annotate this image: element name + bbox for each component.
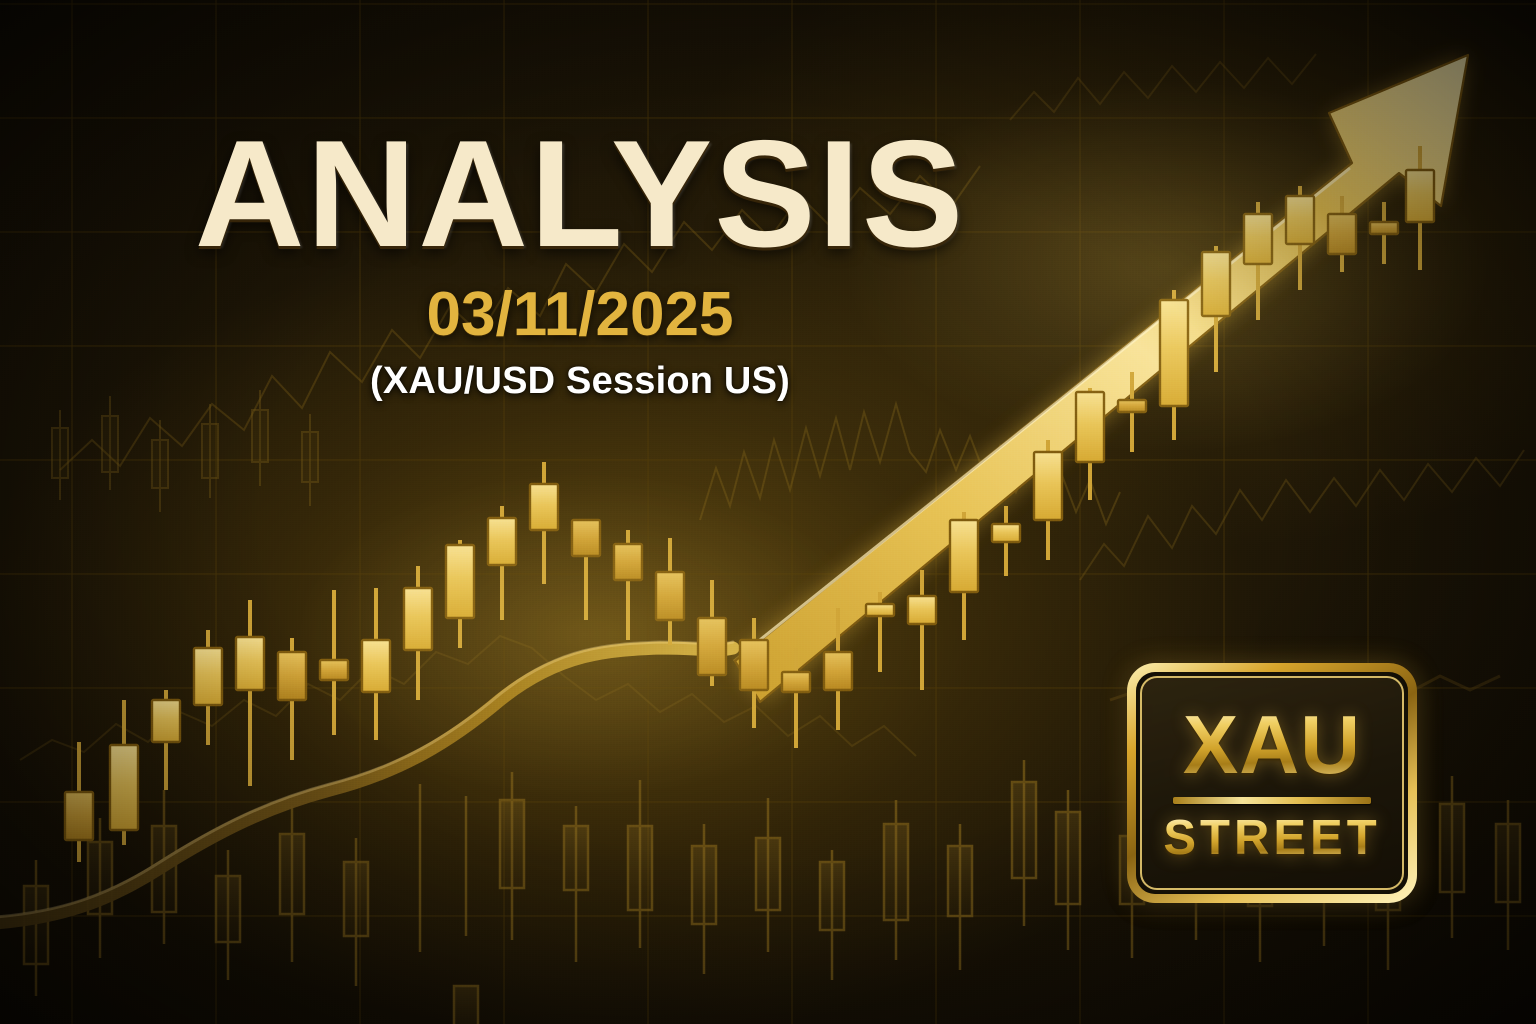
candle-body [278, 652, 306, 700]
candle-body [824, 652, 852, 690]
logo-divider [1173, 797, 1371, 804]
candle-body [992, 524, 1020, 542]
candle-body [1160, 300, 1188, 406]
xau-street-logo[interactable]: XAU STREET [1127, 663, 1417, 903]
candle-body [656, 572, 684, 620]
candle-body [614, 544, 642, 580]
candle-body [908, 596, 936, 624]
candle-body [1286, 196, 1314, 244]
candle-body [152, 700, 180, 742]
candle-body [740, 640, 768, 690]
page-title: ANALYSIS [0, 118, 1160, 270]
title-block: ANALYSIS 03/11/2025 (XAU/USD Session US) [0, 118, 1160, 400]
candle-body [488, 518, 516, 565]
analysis-date: 03/11/2025 [0, 284, 1160, 346]
candle-body [404, 588, 432, 650]
candle-body [1076, 392, 1104, 462]
candle-body [1034, 452, 1062, 520]
candle-body [236, 637, 264, 690]
banner-canvas: ANALYSIS 03/11/2025 (XAU/USD Session US)… [0, 0, 1536, 1024]
logo-word-street: STREET [1163, 814, 1380, 863]
candle-body [530, 484, 558, 530]
logo-word-xau: XAU [1183, 703, 1361, 786]
candle-body [362, 640, 390, 692]
candle-body [572, 520, 600, 556]
candle-body [1202, 252, 1230, 316]
candle-body [950, 520, 978, 592]
candle-body [866, 604, 894, 616]
candle-body [446, 545, 474, 618]
candle-body [110, 745, 138, 830]
candle-body [65, 792, 93, 840]
logo-text-group: XAU STREET [1140, 676, 1404, 890]
candle-body [1118, 400, 1146, 412]
candle-body [320, 660, 348, 680]
candle-body [1244, 214, 1272, 264]
candle-body [1406, 170, 1434, 222]
candle-body [698, 618, 726, 675]
candle-body [194, 648, 222, 705]
session-label: (XAU/USD Session US) [0, 362, 1160, 400]
candle-body [1328, 214, 1356, 254]
candle-body [782, 672, 810, 692]
candle-body [1370, 222, 1398, 234]
